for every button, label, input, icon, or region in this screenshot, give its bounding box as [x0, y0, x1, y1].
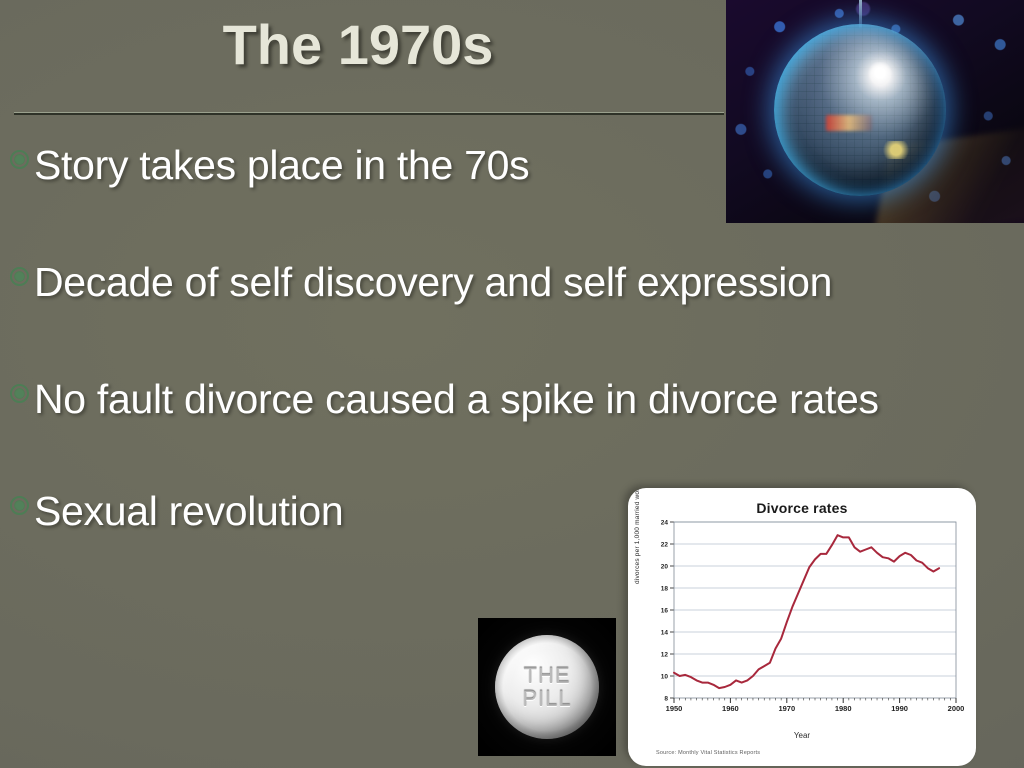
target-bullet-icon [10, 150, 29, 169]
mirrorball-glint [881, 141, 911, 159]
mirrorball-icon [774, 24, 946, 196]
svg-text:10: 10 [661, 674, 669, 681]
title-divider [14, 112, 724, 116]
divorce-rates-chart-card: Divorce rates divorces per 1,000 married… [628, 488, 976, 766]
svg-text:8: 8 [664, 696, 668, 703]
svg-text:1990: 1990 [891, 704, 908, 713]
target-bullet-icon [10, 267, 29, 286]
the-pill-photo: THE PILL [478, 618, 616, 756]
target-bullet-icon [10, 496, 29, 515]
disco-ball-photo [726, 0, 1024, 223]
svg-text:1970: 1970 [778, 704, 795, 713]
svg-text:22: 22 [661, 542, 669, 549]
bullet-text: Decade of self discovery and self expres… [34, 253, 834, 312]
svg-text:12: 12 [661, 652, 669, 659]
svg-text:1980: 1980 [835, 704, 852, 713]
pill-vignette [478, 618, 616, 756]
list-item[interactable]: No fault divorce caused a spike in divor… [10, 370, 995, 429]
target-bullet-icon [10, 384, 29, 403]
mirrorball-glint [867, 62, 893, 84]
svg-text:24: 24 [661, 520, 669, 527]
mirrorball-rim-light [774, 24, 946, 196]
svg-text:1950: 1950 [666, 704, 683, 713]
svg-text:1960: 1960 [722, 704, 739, 713]
divider-shadow [14, 113, 724, 115]
svg-text:20: 20 [661, 564, 669, 571]
bullet-text: No fault divorce caused a spike in divor… [34, 370, 994, 429]
svg-text:2000: 2000 [948, 704, 965, 713]
divorce-rates-line-chart: 8101214161820222419501960197019801990200… [636, 516, 968, 728]
chart-plot-area: 8101214161820222419501960197019801990200… [636, 516, 968, 728]
svg-text:14: 14 [661, 630, 669, 637]
svg-text:16: 16 [661, 608, 669, 615]
svg-text:18: 18 [661, 586, 669, 593]
mirrorball-glint [826, 115, 872, 131]
page-title: The 1970s [0, 16, 716, 75]
slide-canvas: The 1970s Story takes place in the 70s D… [0, 0, 1024, 768]
chart-x-axis-label: Year [628, 731, 976, 740]
chart-source-note: Source: Monthly Vital Statistics Reports [656, 750, 760, 756]
list-item[interactable]: Decade of self discovery and self expres… [10, 253, 995, 312]
chart-title: Divorce rates [628, 500, 976, 516]
